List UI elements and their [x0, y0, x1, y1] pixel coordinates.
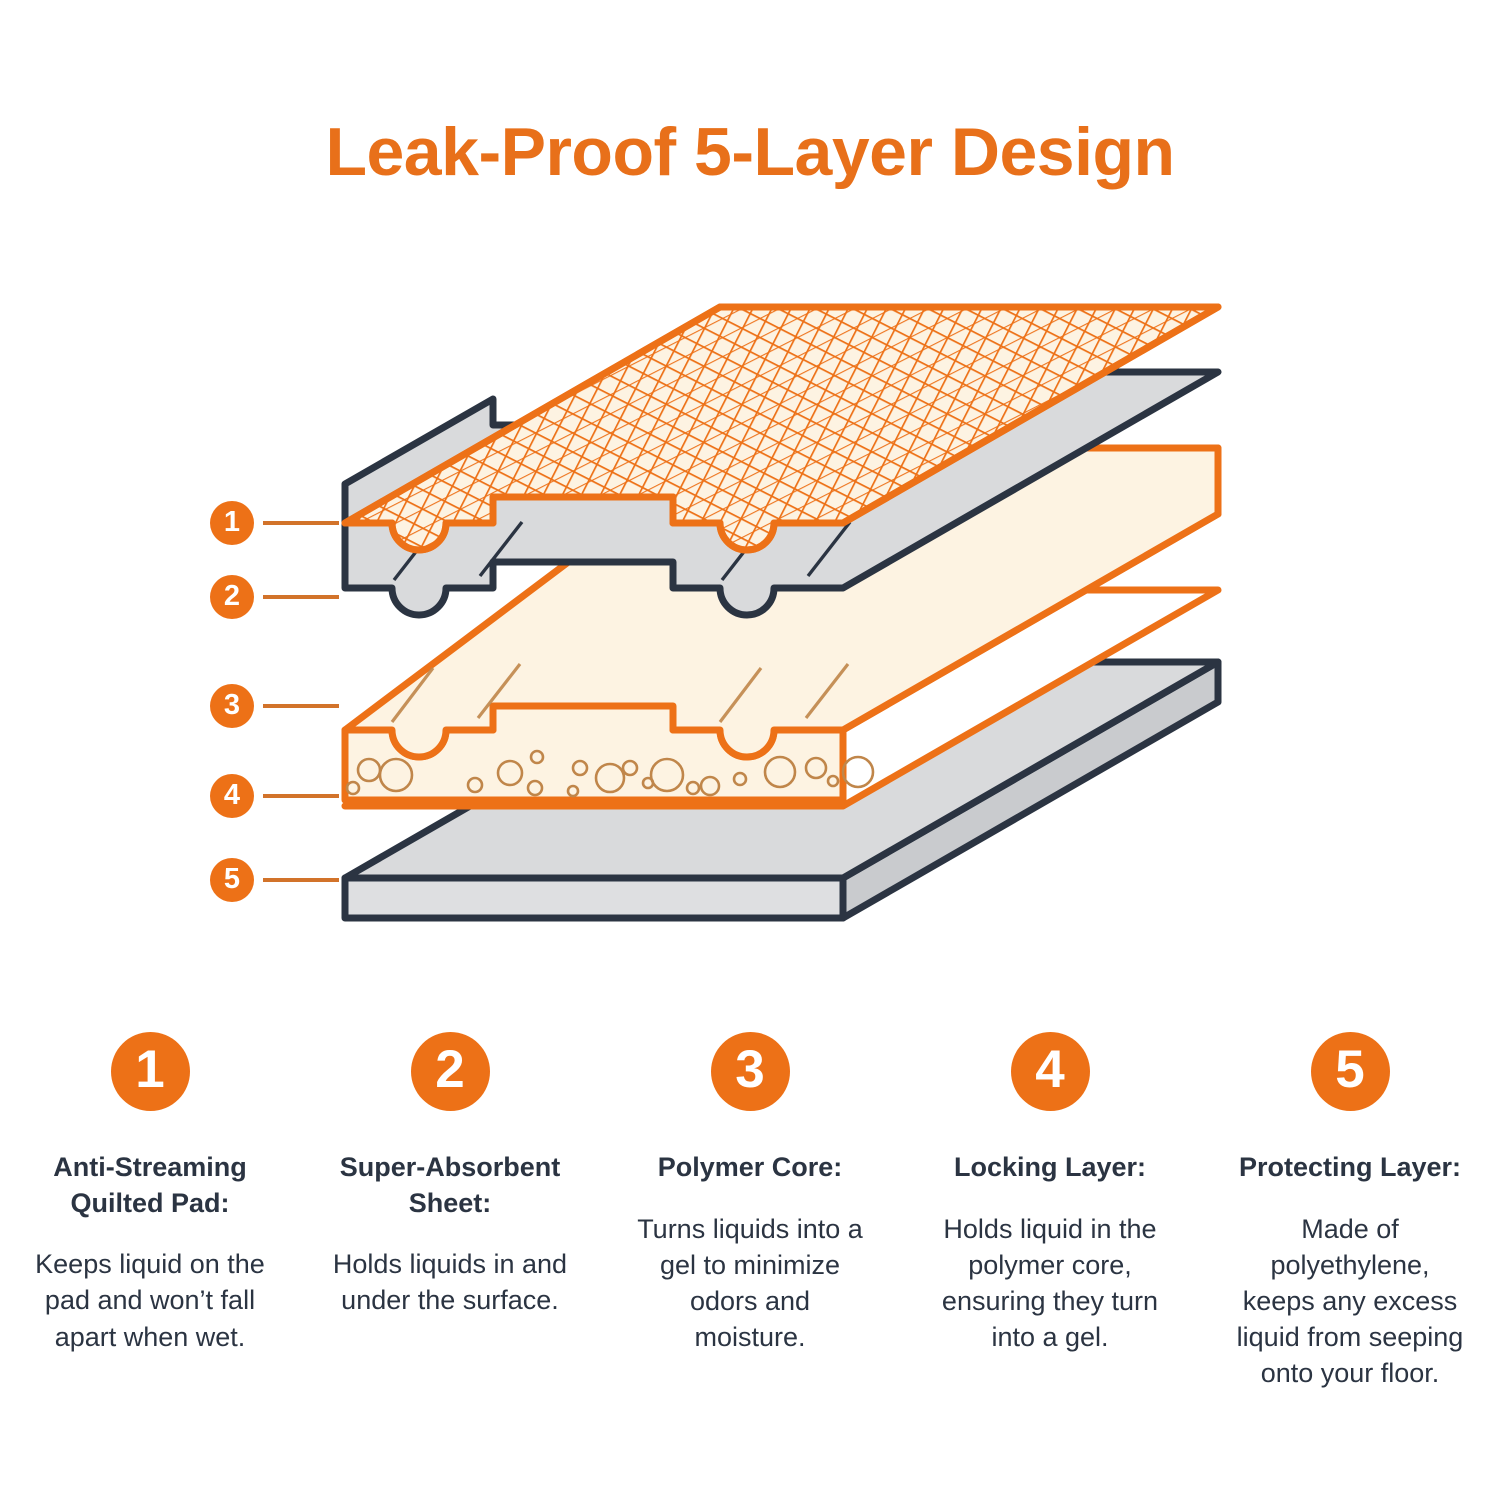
column-badge-2: 2 — [411, 1032, 490, 1111]
column-heading-5: Protecting Layer: — [1239, 1150, 1461, 1186]
layer-diagram — [180, 270, 1290, 950]
column-2: 2 Super-Absorbent Sheet: Holds liquids i… — [300, 1032, 600, 1319]
callout-badge-2: 2 — [210, 575, 254, 619]
column-badge-1: 1 — [111, 1032, 190, 1111]
column-5: 5 Protecting Layer: Made of polyethylene… — [1200, 1032, 1500, 1391]
callout-badge-5: 5 — [210, 858, 254, 902]
page-title: Leak-Proof 5-Layer Design — [0, 118, 1500, 186]
column-4: 4 Locking Layer: Holds liquid in the pol… — [900, 1032, 1200, 1355]
layer-description-columns: 1 Anti-Streaming Quilted Pad: Keeps liqu… — [0, 1032, 1500, 1391]
column-body-1: Keeps liquid on the pad and won’t fall a… — [33, 1246, 268, 1355]
callout-badge-4: 4 — [210, 774, 254, 818]
infographic-root: Leak-Proof 5-Layer Design — [0, 0, 1500, 1500]
callout-4: 4 — [210, 774, 339, 818]
column-heading-3: Polymer Core: — [658, 1150, 843, 1186]
layer-diagram-svg — [180, 270, 1290, 950]
column-body-4: Holds liquid in the polymer core, ensuri… — [933, 1211, 1168, 1356]
callout-5: 5 — [210, 858, 339, 902]
column-3: 3 Polymer Core: Turns liquids into a gel… — [600, 1032, 900, 1355]
column-heading-2: Super-Absorbent Sheet: — [325, 1150, 575, 1221]
callout-line-1 — [263, 521, 339, 525]
callout-2: 2 — [210, 575, 339, 619]
column-badge-5: 5 — [1311, 1032, 1390, 1111]
callout-line-3 — [263, 704, 339, 708]
column-body-2: Holds liquids in and under the surface. — [333, 1246, 568, 1318]
column-heading-1: Anti-Streaming Quilted Pad: — [25, 1150, 275, 1221]
column-heading-4: Locking Layer: — [954, 1150, 1146, 1186]
callout-line-4 — [263, 794, 339, 798]
column-badge-3: 3 — [711, 1032, 790, 1111]
callout-line-5 — [263, 878, 339, 882]
column-body-5: Made of polyethylene, keeps any excess l… — [1233, 1211, 1468, 1392]
callout-3: 3 — [210, 684, 339, 728]
callout-line-2 — [263, 595, 339, 599]
column-body-3: Turns liquids into a gel to minimize odo… — [633, 1211, 868, 1356]
column-badge-4: 4 — [1011, 1032, 1090, 1111]
column-1: 1 Anti-Streaming Quilted Pad: Keeps liqu… — [0, 1032, 300, 1355]
callout-1: 1 — [210, 501, 339, 545]
callout-badge-3: 3 — [210, 684, 254, 728]
callout-badge-1: 1 — [210, 501, 254, 545]
